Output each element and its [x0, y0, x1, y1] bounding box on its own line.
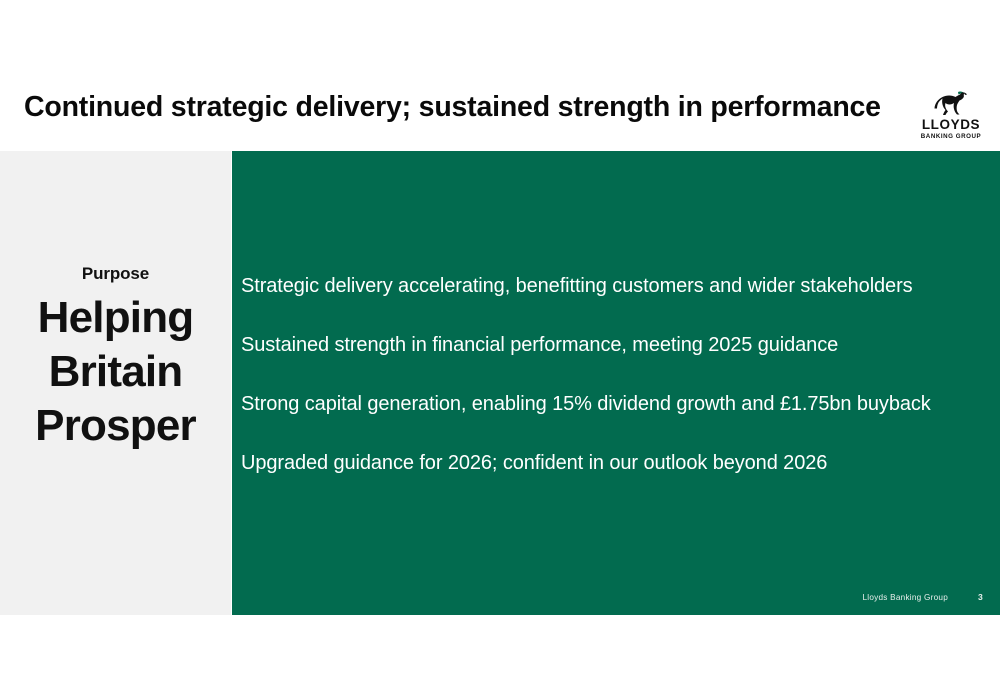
footer-organisation: Lloyds Banking Group: [862, 593, 948, 602]
key-message-item: Upgraded guidance for 2026; confident in…: [241, 450, 991, 476]
purpose-statement-line: Britain: [0, 345, 231, 399]
page-title: Continued strategic delivery; sustained …: [24, 88, 904, 126]
slide-header: Continued strategic delivery; sustained …: [0, 88, 1000, 143]
slide: Continued strategic delivery; sustained …: [0, 0, 1000, 685]
logo-subwordmark: BANKING GROUP: [921, 133, 981, 141]
key-messages-list: Strategic delivery accelerating, benefit…: [241, 273, 991, 476]
brand-logo: LLOYDS BANKING GROUP: [916, 90, 986, 142]
purpose-panel: Purpose Helping Britain Prosper: [0, 151, 231, 615]
key-message-item: Strategic delivery accelerating, benefit…: [241, 273, 991, 299]
purpose-statement: Helping Britain Prosper: [0, 291, 231, 453]
content-panel: Strategic delivery accelerating, benefit…: [232, 151, 1000, 615]
logo-wordmark: LLOYDS: [922, 118, 980, 132]
purpose-panel-content: Purpose Helping Britain Prosper: [0, 263, 231, 453]
key-message-item: Strong capital generation, enabling 15% …: [241, 391, 991, 417]
footer-page-number: 3: [978, 592, 983, 602]
slide-body: Purpose Helping Britain Prosper Strategi…: [0, 151, 1000, 615]
lloyds-black-horse-icon: [931, 90, 971, 117]
purpose-label: Purpose: [0, 263, 231, 285]
key-message-item: Sustained strength in financial performa…: [241, 332, 991, 358]
slide-footer: Lloyds Banking Group 3: [862, 592, 983, 602]
purpose-statement-line: Helping: [0, 291, 231, 345]
purpose-statement-line: Prosper: [0, 399, 231, 453]
